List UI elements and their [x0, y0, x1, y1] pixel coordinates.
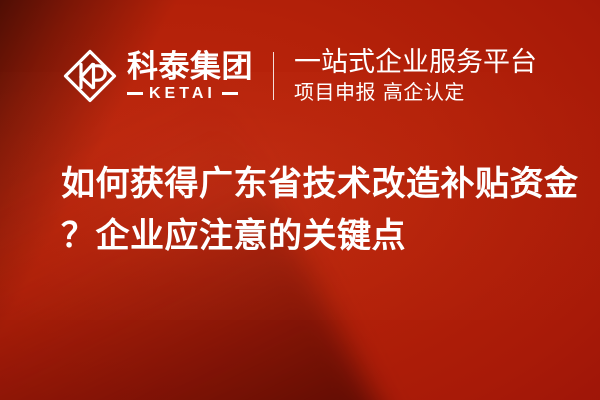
tagline-main: 一站式企业服务平台	[294, 48, 537, 78]
logo-company-name-en: KETAI	[149, 86, 216, 102]
headline-line-1: 如何获得广东省技术改造补贴资金	[61, 158, 561, 210]
vertical-divider-icon	[273, 52, 274, 100]
ketai-diamond-kp-logo-icon	[62, 48, 118, 104]
promo-banner: 科泰集团 KETAI 一站式企业服务平台 项目申报 高企认定 如何获得广东省技术…	[0, 0, 600, 400]
logo-company-name-cn: 科泰集团	[127, 51, 253, 83]
tagline-sub: 项目申报 高企认定	[294, 81, 537, 104]
logo-dash-right-icon	[222, 92, 238, 95]
logo-dash-left-icon	[127, 92, 143, 95]
tagline-block: 一站式企业服务平台 项目申报 高企认定	[294, 48, 537, 104]
headline-line-2: ？企业应注意的关键点	[61, 210, 561, 262]
company-logo[interactable]: 科泰集团 KETAI	[62, 40, 253, 112]
logo-company-name-en-row: KETAI	[127, 86, 253, 102]
banner-header: 科泰集团 KETAI 一站式企业服务平台 项目申报 高企认定	[62, 40, 537, 112]
headline: 如何获得广东省技术改造补贴资金 ？企业应注意的关键点	[61, 158, 561, 262]
logo-wordmark: 科泰集团 KETAI	[127, 51, 253, 102]
